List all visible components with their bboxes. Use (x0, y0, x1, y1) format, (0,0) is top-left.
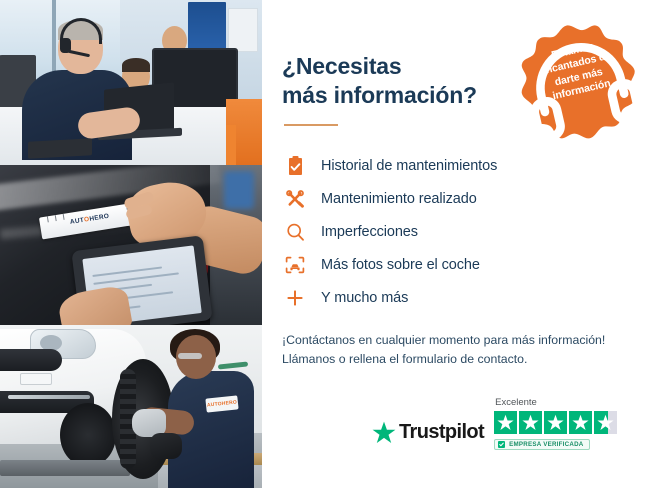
ruler-brand-label: AUTOHERO (70, 213, 110, 226)
contact-paragraph: ¡Contáctanos en cualquier momento para m… (282, 331, 650, 370)
trustpilot-logo: Trustpilot (372, 421, 484, 444)
feature-label: Historial de mantenimientos (321, 158, 497, 174)
wall-poster-white (228, 8, 258, 52)
feature-item-mucho-mas: Y mucho más (282, 282, 650, 315)
car-upper-grille (0, 349, 62, 371)
safety-glasses (178, 353, 202, 359)
second-agent-hair (122, 58, 150, 72)
feature-item-historial: Historial de mantenimientos (282, 150, 650, 183)
star-filled (544, 411, 567, 434)
star-filled (494, 411, 517, 434)
feature-item-mantenimiento: Mantenimiento realizado (282, 183, 650, 216)
autohero-ruler-inspection-photo: AUTOHERO (0, 165, 262, 325)
desk-tablet (28, 138, 92, 158)
support-starburst-badge: Estamos encantados de darte más informac… (507, 10, 650, 156)
verified-company-badge: EMPRESA VERIFICADA (494, 439, 589, 450)
headline-line-2: más información? (282, 82, 477, 108)
page-title: ¿Necesitas más información? (282, 52, 522, 110)
verified-label: EMPRESA VERIFICADA (509, 441, 583, 448)
trustpilot-wordmark: Trustpilot (399, 421, 484, 444)
star-filled (569, 411, 592, 434)
feature-item-imperfecciones: Imperfecciones (282, 216, 650, 249)
feature-label: Imperfecciones (321, 224, 418, 240)
wheel-rim (60, 403, 116, 467)
chrome-trim (8, 395, 90, 399)
vehicle-lift-arm (0, 460, 130, 476)
contact-info-banner: AUTOHERO (0, 0, 650, 488)
checkbox-check-icon (498, 441, 505, 448)
clipboard-check-icon (282, 155, 308, 177)
star-filled (519, 411, 542, 434)
feature-label: Más fotos sobre el coche (321, 257, 480, 273)
star-partial (594, 411, 617, 434)
magnifier-icon (282, 221, 308, 243)
info-panel: ¿Necesitas más información? Estamos enca… (262, 0, 650, 488)
mechanic-glove-right (150, 433, 182, 459)
feature-label: Mantenimiento realizado (321, 191, 477, 207)
call-centre-agent-headset-photo (0, 0, 262, 165)
orange-equipment-bar (226, 125, 236, 165)
wall-poster-blue (188, 2, 226, 54)
photo-collage: AUTOHERO (0, 0, 262, 488)
trustpilot-star-icon (372, 421, 396, 444)
plus-icon (282, 287, 308, 309)
trustpilot-rating-widget[interactable]: Trustpilot Excelente (372, 397, 617, 450)
license-plate-area (20, 373, 52, 385)
headline-underline-accent (284, 124, 338, 126)
rating-label: Excelente (495, 397, 537, 408)
tools-cross-icon (282, 188, 308, 210)
contact-line-2: Llámanos o rellena el formulario de cont… (282, 352, 527, 366)
feature-item-mas-fotos: Más fotos sobre el coche (282, 249, 650, 282)
car-frame-icon (282, 254, 308, 276)
feature-label: Y mucho más (321, 290, 408, 306)
contact-line-1: ¡Contáctanos en cualquier momento para m… (282, 333, 605, 347)
mechanic-wheel-inspection-photo: AUTOHERO (0, 325, 262, 488)
star-rating (494, 411, 617, 434)
background-blue-blur (224, 171, 254, 209)
headline-line-1: ¿Necesitas (282, 53, 401, 79)
feature-list: Historial de mantenimientos Mantenimient… (282, 150, 650, 315)
trustpilot-score-block: Excelente (494, 397, 617, 450)
headset-icon (507, 10, 650, 156)
